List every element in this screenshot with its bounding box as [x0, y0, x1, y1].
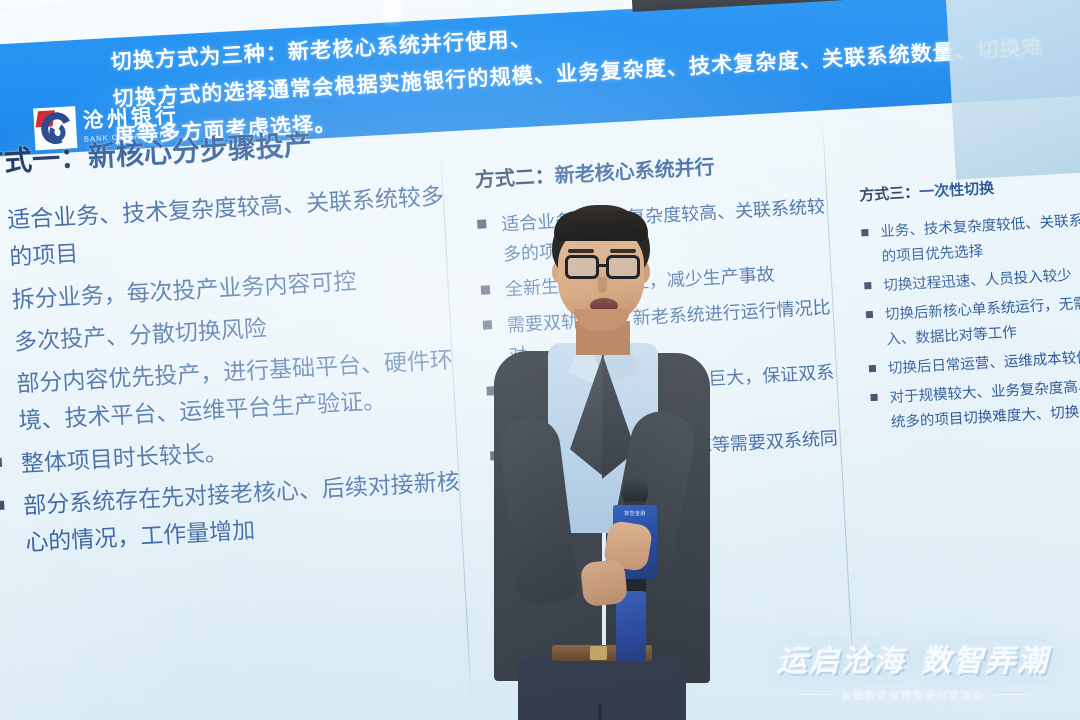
- column-2-heading-lead: 方式二：: [474, 165, 555, 191]
- event-subtitle: 金融数字化转型研讨交流会: [841, 687, 985, 702]
- square-bullet-icon: [0, 500, 4, 509]
- hand-lower: [580, 559, 628, 607]
- slide-column-3: 方式三：一次性切换 业务、技术复杂度较低、关联系统较少的项目优先选择 切换过程迅…: [859, 169, 1080, 440]
- event-slogan-left: 运启沧海: [777, 645, 905, 678]
- bullet-text: 对于规模较大、业务复杂度高、关联系统多的项目切换难度大、切换风险高。: [889, 372, 1080, 436]
- microphone-flag-text-1: 数智金融: [613, 511, 657, 519]
- square-bullet-icon: [866, 311, 873, 318]
- trouser-leg-seam: [598, 705, 602, 720]
- event-logo: 运启沧海数智弄潮 金融数字化转型研讨交流会: [768, 636, 1058, 702]
- list-item: 业务、技术复杂度较低、关联系统较少的项目优先选择: [861, 206, 1080, 271]
- hair-fringe: [554, 211, 648, 241]
- square-bullet-icon: [0, 458, 2, 467]
- column-3-heading-lead: 方式三：: [859, 184, 920, 204]
- column-1-heading-sub: 新核心分步骤投产: [87, 129, 312, 172]
- column-2-heading-sub: 新老核心系统并行: [554, 157, 715, 188]
- belt-buckle: [590, 646, 607, 660]
- eyeglasses-lens-left: [565, 255, 599, 279]
- rule-left: [799, 694, 833, 695]
- list-item: 对于规模较大、业务复杂度高、关联系统多的项目切换难度大、切换风险高。: [870, 372, 1080, 437]
- slide-column-1: 方式一：新核心分步骤投产 适合业务、技术复杂度较高、关联系统较多的项目 拆分业务…: [0, 116, 468, 569]
- bullet-text: 切换后新核心单系统运行，无需二次投入、数据比对等工作: [884, 289, 1080, 353]
- square-bullet-icon: [864, 282, 871, 289]
- eyeglasses-lens-right: [606, 255, 640, 279]
- trousers: [518, 657, 686, 720]
- event-slogan-right: 数智弄潮: [921, 645, 1049, 678]
- speaker-person: 数智金融: [470, 205, 730, 720]
- list-item: 切换后新核心单系统运行，无需二次投入、数据比对等工作: [865, 289, 1080, 354]
- column-3-heading-sub: 一次性切换: [919, 180, 995, 201]
- column-3-bullet-list: 业务、技术复杂度较低、关联系统较少的项目优先选择 切换过程迅速、人员投入较少 切…: [861, 206, 1080, 436]
- event-slogan: 运启沧海数智弄潮: [768, 636, 1058, 680]
- eyebrow-right: [610, 249, 636, 253]
- column-1-heading-lead: 方式一：: [0, 141, 89, 178]
- nose: [598, 277, 607, 293]
- column-1-bullet-list: 适合业务、技术复杂度较高、关联系统较多的项目 拆分业务，每次投产业务内容可控 多…: [0, 177, 468, 563]
- square-bullet-icon: [861, 229, 868, 236]
- header-bullet-dot: [382, 0, 403, 21]
- event-subtitle-row: 金融数字化转型研讨交流会: [768, 687, 1058, 702]
- photo-frame: 信创环境的切换方式 切换方式为三种：新老核心系统并行使用、 切换方式的选择通常会…: [0, 0, 1080, 720]
- eyebrow-left: [568, 249, 594, 253]
- bullet-text: 业务、技术复杂度较低、关联系统较少的项目优先选择: [880, 206, 1080, 270]
- eyeglasses-bridge: [598, 264, 608, 267]
- bank-name-cn: 沧州银行: [82, 105, 179, 131]
- rule-right: [993, 694, 1027, 695]
- square-bullet-icon: [870, 394, 877, 401]
- column-2-heading: 方式二：新老核心系统并行: [474, 144, 835, 193]
- square-bullet-icon: [869, 365, 876, 372]
- wall-panel-right: [946, 0, 1080, 180]
